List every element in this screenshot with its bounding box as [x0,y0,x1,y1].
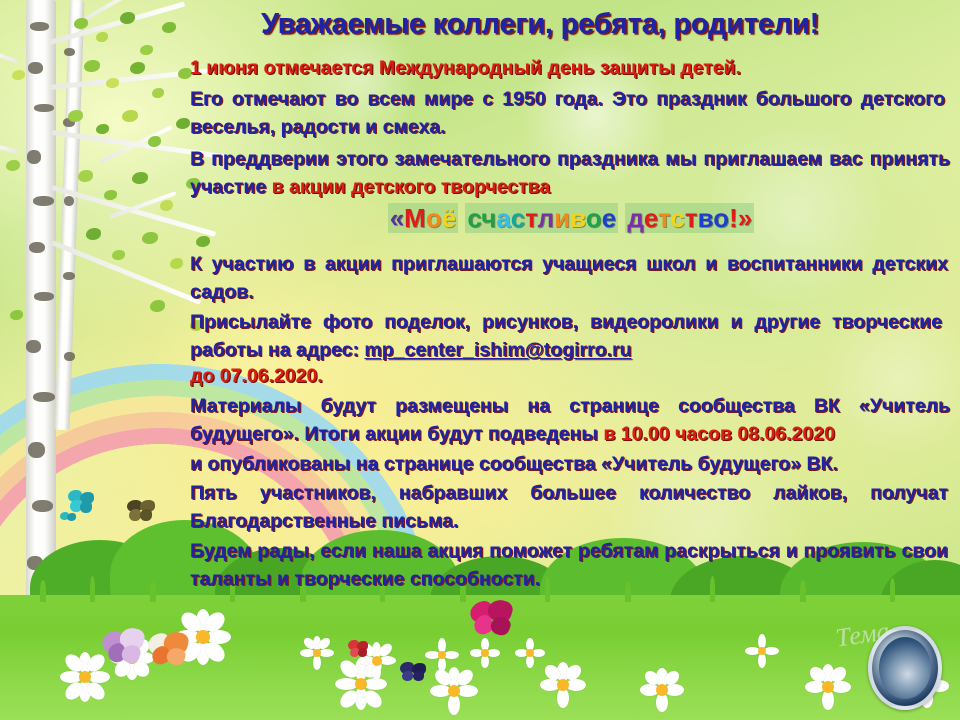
paragraph-submission: Присылайте фото поделок, рисунков, видео… [190,308,942,364]
slogan-letter: о [713,203,729,233]
slogan-letter: о [586,203,602,233]
slogan-letter: е [602,203,616,233]
organization-emblem [868,626,942,710]
poster-canvas: Уважаемые коллеги, ребята, родители! 1 и… [0,0,960,720]
email-link[interactable]: mp_center_ishim@togirro.ru [364,339,631,361]
paragraph-results: Материалы будут размещены на странице со… [190,392,950,448]
slogan-letter: М [404,203,426,233]
paragraph-publication: и опубликованы на странице сообщества «У… [190,450,955,478]
paragraph-invitation-highlight: в акции детского творчества [272,176,551,198]
poster-text-content: Уважаемые коллеги, ребята, родители! 1 и… [0,0,960,720]
slogan-letter: » [738,203,752,233]
slogan-letter: « [390,203,404,233]
paragraph-history: Его отмечают во всем мире с 1950 года. Э… [190,85,945,141]
paragraph-participants-text: К участию в акции приглашаются учащиеся … [190,253,948,303]
slogan-letter: ё [442,203,456,233]
campaign-slogan: «Моё счастливое детство!» [190,203,952,233]
paragraph-closing: Будем рады, если наша акция поможет ребя… [190,537,948,593]
page-title: Уважаемые коллеги, ребята, родители! [150,8,930,41]
slogan-letter: о [426,203,442,233]
slogan-letter: т [658,203,670,233]
paragraph-invitation: В преддверии этого замечательного праздн… [190,145,950,201]
slogan-letter: д [627,203,644,233]
paragraph-results-text: Материалы будут размещены на странице со… [190,395,950,445]
slogan-letter: в [698,203,714,233]
paragraph-awards: Пять участников, набравших большее колич… [190,479,948,535]
paragraph-deadline: до 07.06.2020. [190,362,952,390]
slogan-letter: в [570,203,586,233]
paragraph-awards-text: Пять участников, набравших большее колич… [190,482,948,532]
paragraph-date-text: 1 июня отмечается Международный день защ… [190,57,741,79]
paragraph-results-time: в 10.00 часов 08.06.2020 [603,423,835,445]
slogan-letter: ! [729,203,738,233]
slogan-word: счастливое [465,203,618,233]
paragraph-date: 1 июня отмечается Международный день защ… [190,54,952,82]
slogan-letter: и [554,203,570,233]
slogan-word: детство!» [625,203,754,233]
paragraph-deadline-text: до 07.06.2020. [190,365,323,387]
paragraph-publication-text: и опубликованы на странице сообщества «У… [190,453,838,475]
slogan-letter: с [670,203,684,233]
slogan-letter: е [644,203,658,233]
slogan-letter: л [538,203,555,233]
emblem-inner [879,637,931,699]
slogan-letter: ч [481,203,496,233]
paragraph-closing-text: Будем рады, если наша акция поможет ребя… [190,540,948,590]
paragraph-participants: К участию в акции приглашаются учащиеся … [190,250,948,306]
slogan-letter: с [511,203,525,233]
slogan-letter: а [496,203,510,233]
paragraph-history-text: Его отмечают во всем мире с 1950 года. Э… [190,88,945,138]
slogan-letter: с [467,203,481,233]
slogan-letter: т [685,203,698,233]
slogan-letter: т [525,203,537,233]
slogan-word: «Моё [388,203,459,233]
